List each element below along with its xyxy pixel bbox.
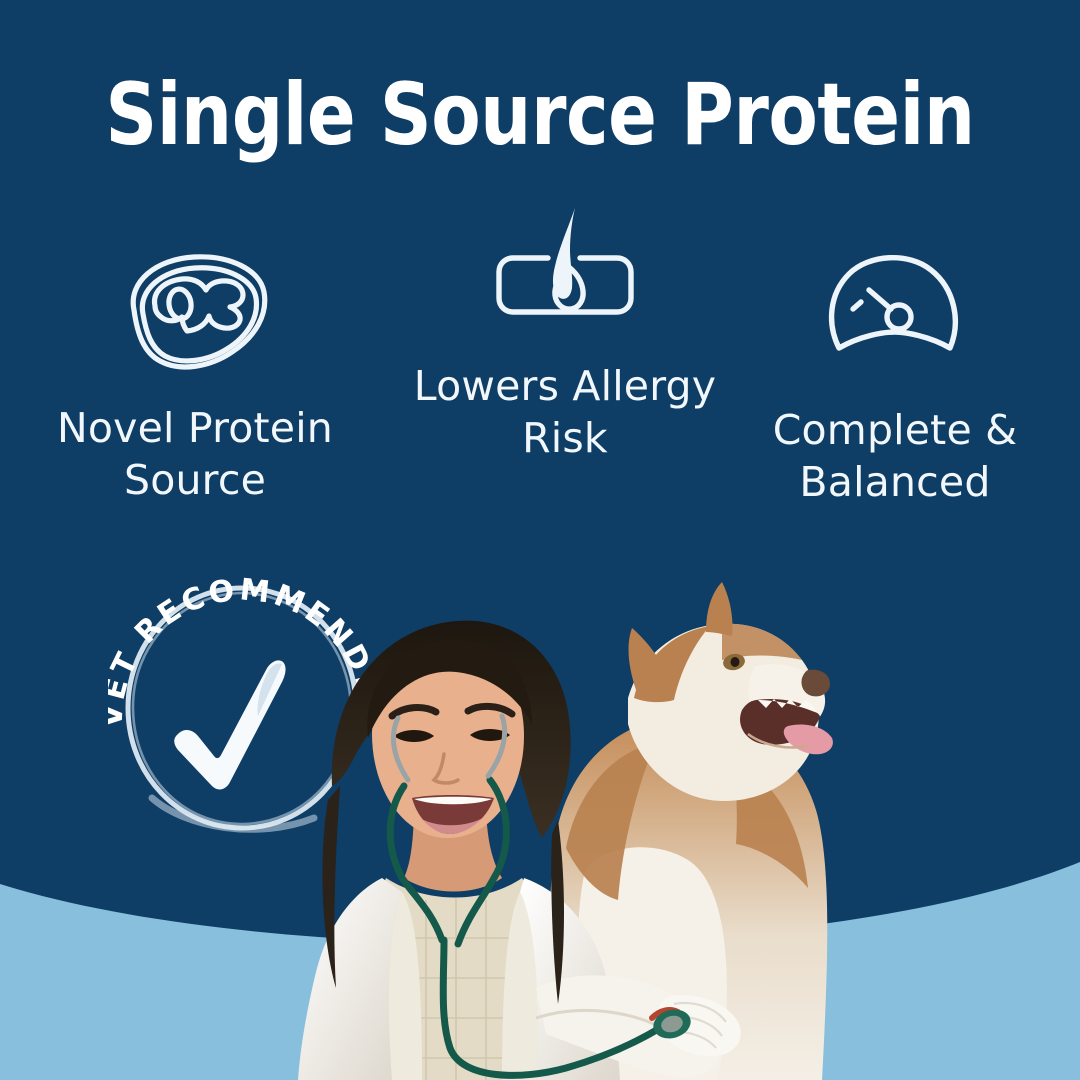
hair-follicle-icon [480,202,650,340]
gauge-icon [819,252,971,382]
vet-with-husky-photo [236,548,836,1080]
page-title: Single Source Protein [38,72,1042,158]
feature-label-line1: Lowers Allergy [414,362,717,410]
steak-icon [110,248,280,378]
feature-label-line2: Source [124,456,266,504]
feature-label-line2: Risk [522,414,608,462]
feature-label-line1: Novel Protein [57,404,333,452]
feature-item-complete-and-balanced: Complete &Balanced [725,196,1065,509]
feature-label-novel-protein-source: Novel ProteinSource [25,402,365,507]
feature-label-complete-and-balanced: Complete &Balanced [725,404,1065,509]
feature-label-lowers-allergy-risk: Lowers AllergyRisk [395,360,735,465]
feature-label-line2: Balanced [799,458,990,506]
feature-label-line1: Complete & [773,406,1018,454]
feature-item-lowers-allergy-risk: Lowers AllergyRisk [395,196,735,465]
feature-item-novel-protein-source: Novel ProteinSource [25,196,365,507]
poster-canvas: Single Source Protein Novel ProteinSourc… [0,0,1080,1080]
feature-row: Novel ProteinSource Lowers AllergyRisk [0,196,1080,526]
